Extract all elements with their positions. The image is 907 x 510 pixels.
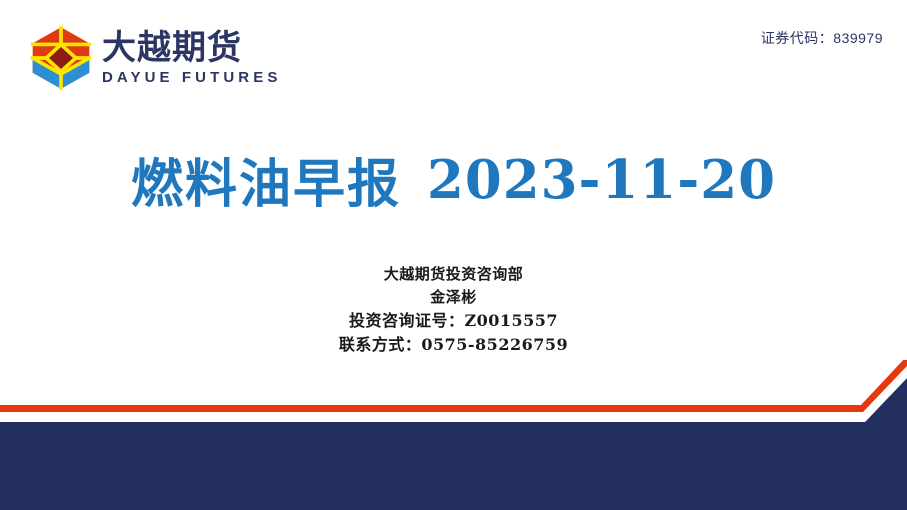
byline-department: 大越期货投资咨询部 (0, 267, 907, 282)
banner-orange-stripe (0, 360, 907, 412)
dayue-hexagon-logo-icon (30, 26, 92, 90)
brand-lockup: 大越期货 DAYUE FUTURES (30, 26, 281, 90)
byline-certificate: 投资咨询证号：Z0015557 (0, 313, 907, 329)
security-code: 证券代码：839979 (761, 28, 883, 48)
brand-name-en: DAYUE FUTURES (102, 69, 281, 87)
bottom-decorative-banner (0, 360, 907, 510)
page-title: 燃料油早报2023-11-20 (0, 142, 907, 217)
banner-navy-shape (0, 378, 907, 510)
slide-canvas: 大越期货 DAYUE FUTURES 证券代码：839979 燃料油早报2023… (0, 0, 907, 510)
byline-contact: 联系方式：0575-85226759 (0, 337, 907, 353)
byline-author: 金泽彬 (0, 290, 907, 305)
brand-wordmark: 大越期货 DAYUE FUTURES (102, 31, 281, 87)
report-name: 燃料油早报 (131, 154, 401, 215)
byline-block: 大越期货投资咨询部 金泽彬 投资咨询证号：Z0015557 联系方式：0575-… (0, 267, 907, 353)
brand-name-cn: 大越期货 (102, 31, 281, 66)
banner-shapes (0, 360, 907, 510)
banner-white-gap (0, 366, 907, 422)
report-date: 2023-11-20 (427, 149, 776, 211)
